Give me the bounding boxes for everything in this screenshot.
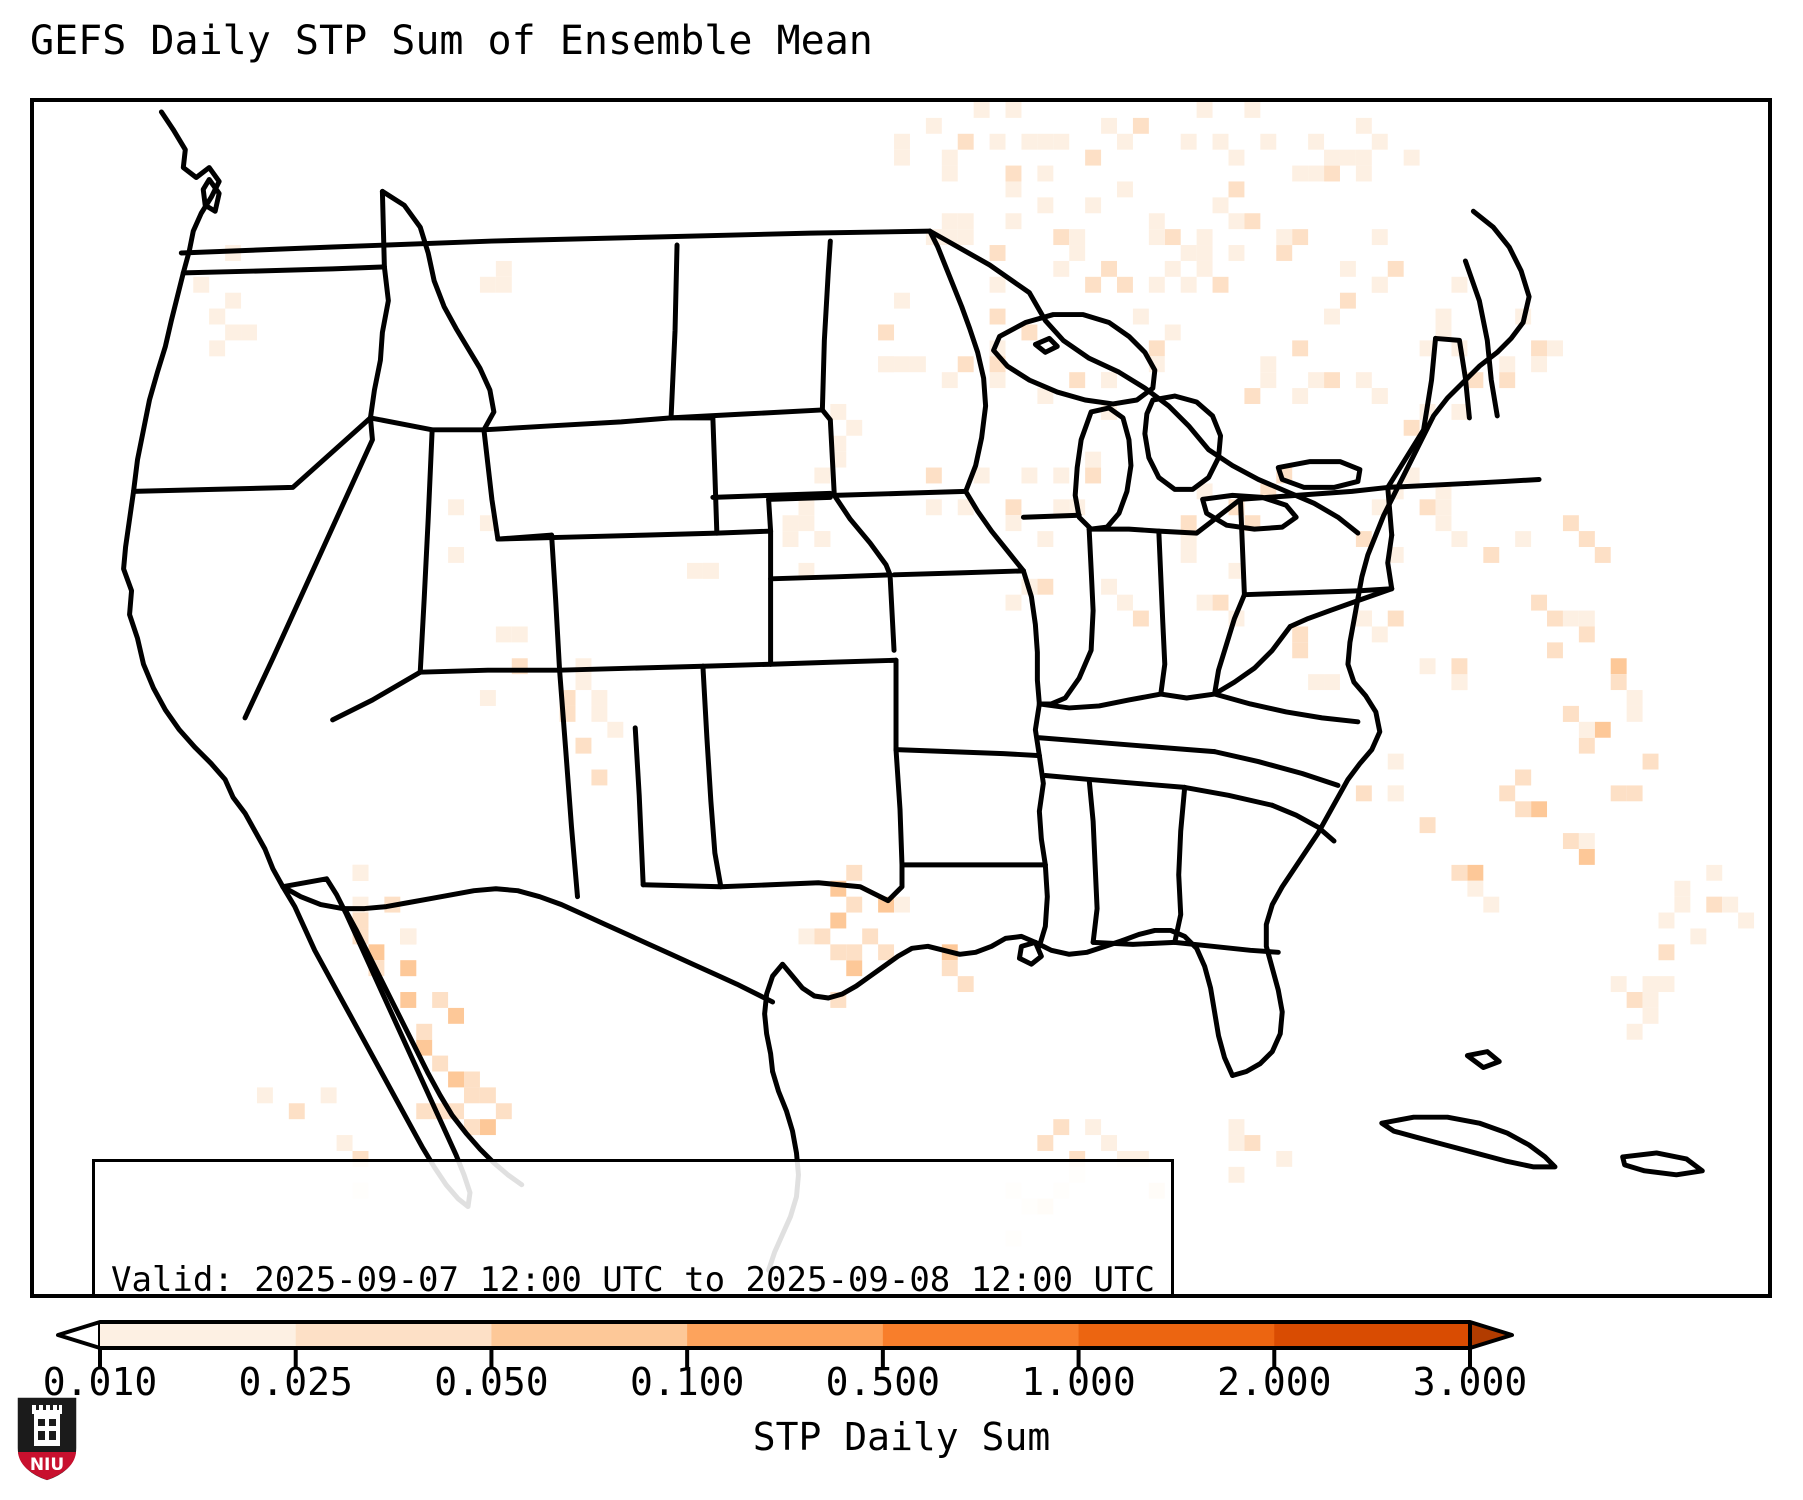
border-sd-mn	[822, 410, 834, 495]
colorbar-tick-label: 3.000	[1413, 1360, 1527, 1404]
valid-time-line: Valid: 2025-09-07 12:00 UTC to 2025-09-0…	[111, 1259, 1155, 1298]
border-ks-mo	[890, 575, 894, 650]
lake-ontario	[1278, 462, 1360, 488]
border-wy-co	[498, 533, 717, 539]
us-canada-border-lakes	[930, 231, 1358, 533]
niu-castle-icon	[32, 1405, 62, 1446]
border-wa-or	[183, 267, 384, 273]
border-ar-tn-ms	[1039, 756, 1045, 865]
border-mo-ar	[896, 750, 1039, 756]
border-az-nm	[560, 670, 578, 896]
border-ut-co	[552, 535, 560, 670]
border-al-fl	[1093, 942, 1175, 944]
lake-huron	[1145, 396, 1221, 489]
border-co-ne	[769, 499, 771, 531]
border-nd-mn	[822, 241, 830, 410]
border-pa-nj	[1388, 535, 1392, 589]
map-axes: Valid: 2025-09-07 12:00 UTC to 2025-09-0…	[30, 98, 1772, 1298]
border-pa-md	[1244, 589, 1391, 595]
border-la-ms	[1039, 865, 1047, 946]
border-nd-sd	[671, 410, 822, 418]
border-ok-tx	[721, 865, 902, 901]
border-nv-az	[333, 672, 421, 720]
page-title: GEFS Daily STP Sum of Ensemble Mean	[30, 18, 873, 64]
colorbar-tick-label: 1.000	[1021, 1360, 1135, 1404]
colorbar-band	[491, 1322, 687, 1348]
border-nm-tx-h	[643, 885, 721, 887]
border-wi-il	[1023, 515, 1079, 517]
border-nv-ut	[420, 430, 432, 672]
border-ut-az	[420, 670, 559, 672]
border-in-oh	[1159, 531, 1165, 694]
border-tn-ms-al	[1045, 775, 1184, 787]
border-ky-tn	[1039, 738, 1214, 752]
border-ia-mo	[894, 571, 1023, 575]
border-ga-fl	[1175, 942, 1279, 952]
border-id-mt	[382, 191, 493, 429]
border-ks-ok-h	[771, 660, 896, 664]
pacific-coastline	[124, 112, 283, 887]
border-ne-ia	[834, 495, 890, 574]
border-oh-pa	[1240, 499, 1244, 594]
border-oh-ky	[1161, 694, 1215, 698]
niu-logo: NIU	[16, 1396, 78, 1482]
colorbar-band	[296, 1322, 492, 1348]
lake-michigan	[1075, 408, 1131, 529]
border-ga-sc-nc	[1185, 787, 1273, 805]
colorbar-band	[1079, 1322, 1275, 1348]
border-nm-tx	[703, 666, 721, 887]
florida-gulf-coast	[1123, 930, 1232, 1075]
colorbar-band	[100, 1322, 296, 1348]
border-va-nc	[1215, 694, 1358, 722]
border-mn-ia	[834, 491, 965, 495]
baja-california	[283, 879, 470, 1207]
border-wy-ne	[671, 418, 717, 533]
border-wv-va	[1215, 626, 1291, 694]
colorbar-axis-label: STP Daily Sum	[0, 1415, 1803, 1459]
border-co-ok	[703, 664, 771, 666]
border-il-in	[1039, 529, 1093, 704]
geography-layer	[34, 102, 1768, 1294]
border-ia-il	[966, 491, 1024, 570]
cuba-coastline	[1382, 1117, 1555, 1167]
isle-royale	[1035, 338, 1057, 352]
border-nm-tx-v	[635, 728, 643, 885]
border-ut-wy	[484, 430, 498, 539]
info-annotation-box: Valid: 2025-09-07 12:00 UTC to 2025-09-0…	[92, 1159, 1174, 1298]
border-ar-ok	[896, 750, 902, 865]
colorbar-band	[687, 1322, 883, 1348]
border-nv-ca	[245, 418, 372, 718]
border-id-nv-ut	[370, 418, 483, 430]
border-or-id	[370, 267, 388, 418]
colorbar-tick-labels: 0.0100.0250.0500.1000.5001.0002.0003.000	[0, 1360, 1803, 1410]
colorbar-tick-label: 0.050	[434, 1360, 548, 1404]
border-co-ks	[717, 531, 771, 533]
border-mn-wi	[930, 231, 986, 491]
border-ne-ks	[771, 575, 890, 579]
border-mt-wy	[484, 418, 671, 430]
border-mi-in-oh	[1089, 499, 1240, 533]
border-tn-nc-va	[1215, 752, 1338, 786]
border-mt-nd	[671, 245, 677, 418]
colorbar-over-arrow	[1470, 1322, 1512, 1348]
us-canada-border-49	[181, 231, 930, 253]
colorbar-band	[1274, 1322, 1470, 1348]
gulf-coastline	[765, 936, 1123, 1071]
border-co-ne-h	[769, 497, 831, 499]
colorbar-bands	[58, 1322, 1512, 1348]
border-il-mo	[1023, 571, 1039, 704]
colorbar-tick-label: 0.500	[826, 1360, 940, 1404]
niu-logo-text: NIU	[30, 1455, 64, 1475]
colorbar-tick-label: 2.000	[1217, 1360, 1331, 1404]
gulf-of-california-mainland	[345, 909, 522, 1185]
border-nm-co	[560, 666, 703, 670]
border-or-ca-nv	[134, 418, 371, 492]
border-nh-me	[1465, 261, 1497, 416]
lake-superior	[994, 315, 1155, 404]
colorbar-band	[883, 1322, 1079, 1348]
colorbar-tick-label: 0.025	[239, 1360, 353, 1404]
border-pa-ny-v	[1388, 487, 1392, 535]
colorbar-outline	[100, 1322, 1470, 1348]
border-wa-id	[382, 191, 384, 266]
hispaniola-coastline	[1623, 1153, 1703, 1175]
bahamas-coastline	[1467, 1052, 1499, 1068]
border-al-ga	[1175, 787, 1185, 942]
border-ms-al	[1089, 779, 1097, 942]
colorbar-under-arrow	[58, 1322, 100, 1348]
border-mo-tn	[1035, 704, 1039, 756]
us-mexico-border	[283, 887, 773, 1002]
colorbar-tick-label: 0.100	[630, 1360, 744, 1404]
border-ma-ct-ri	[1467, 479, 1539, 483]
